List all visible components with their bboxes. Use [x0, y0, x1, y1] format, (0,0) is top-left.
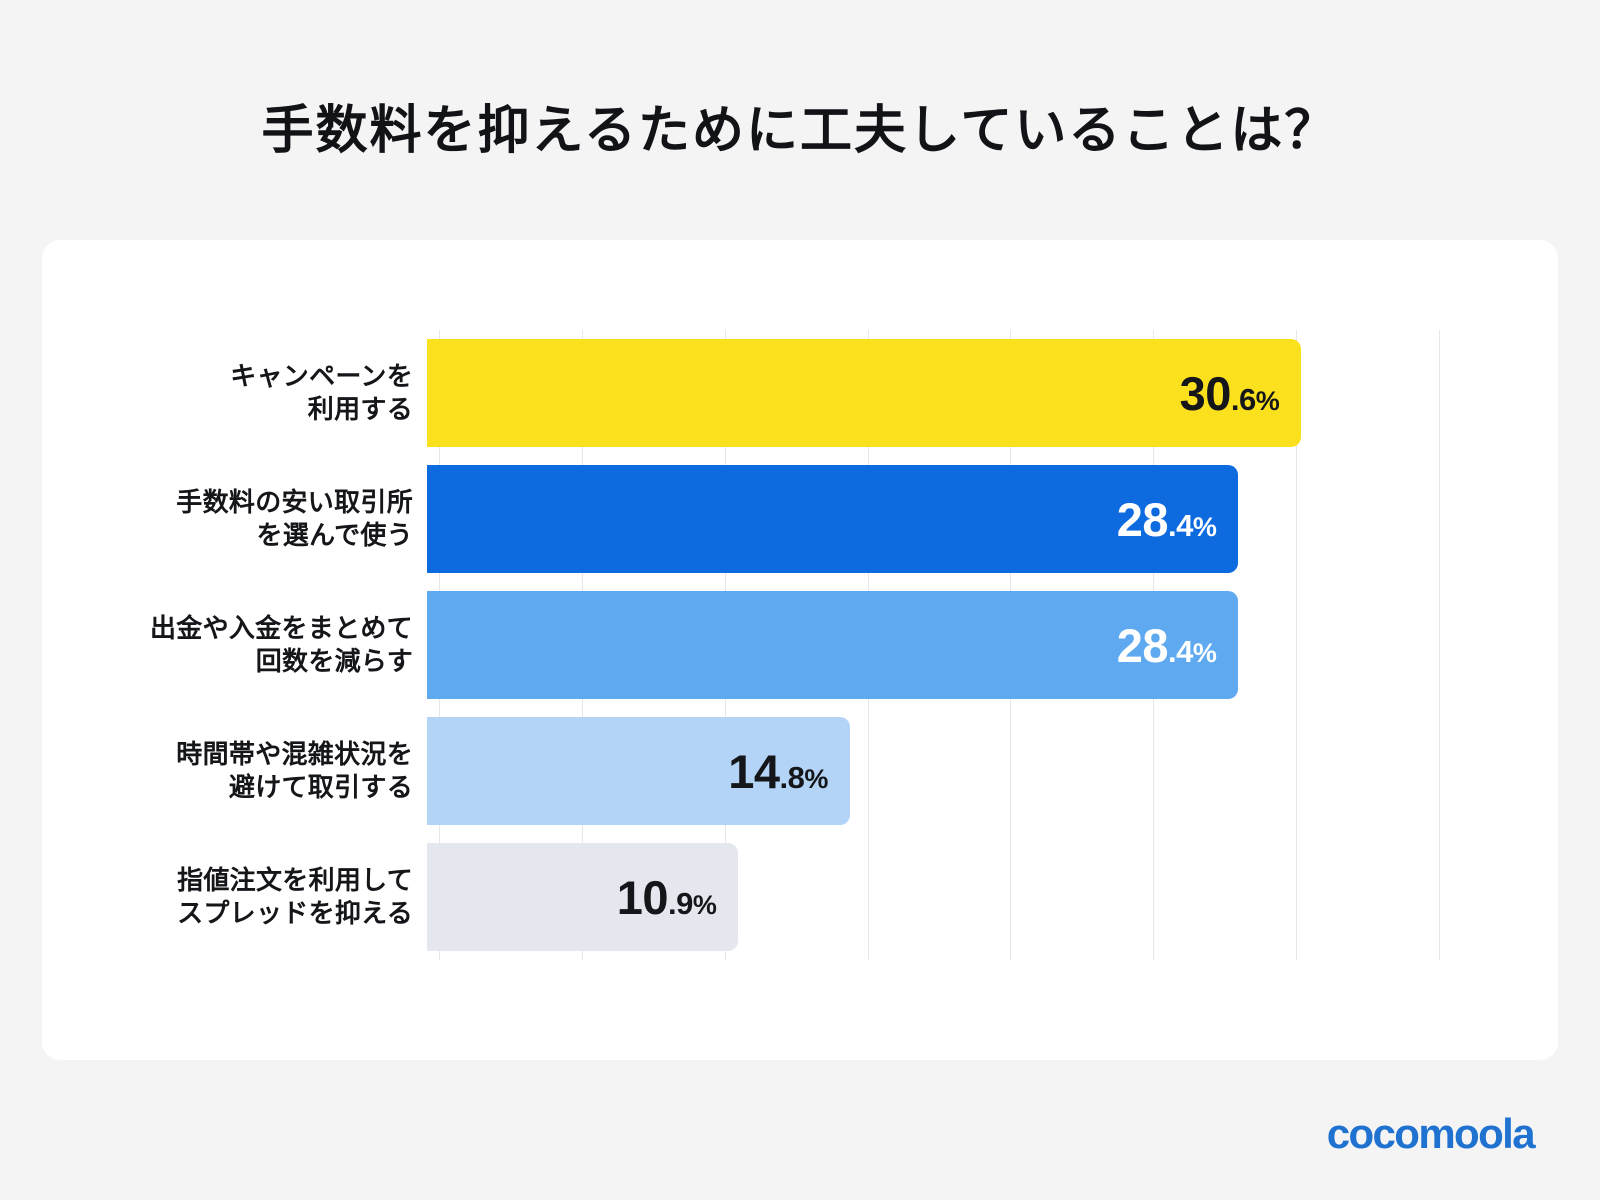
bar-row: 出金や入金をまとめて 回数を減らす28.4%: [42, 582, 1558, 708]
category-label: 出金や入金をまとめて 回数を減らす: [42, 612, 427, 678]
bar-value-label: 14.8%: [728, 744, 828, 799]
chart-page: 手数料を抑えるために工夫していることは？ キャンペーンを 利用する30.6%手数…: [0, 0, 1600, 1200]
value-dec: .4: [1168, 508, 1193, 544]
value-dec: .9: [668, 886, 693, 922]
bar-track: 28.4%: [427, 582, 1558, 708]
bar[interactable]: 28.4%: [427, 591, 1238, 699]
chart-card: キャンペーンを 利用する30.6%手数料の安い取引所 を選んで使う28.4%出金…: [42, 240, 1558, 1060]
bar-track: 28.4%: [427, 456, 1558, 582]
value-pct: %: [1193, 638, 1217, 669]
value-dec: .8: [779, 760, 804, 796]
page-title: 手数料を抑えるために工夫していることは？: [0, 88, 1600, 163]
bar-track: 14.8%: [427, 708, 1558, 834]
bar[interactable]: 28.4%: [427, 465, 1238, 573]
value-pct: %: [1256, 386, 1280, 417]
value-pct: %: [804, 764, 828, 795]
cocomoola-logo: cocomoola: [1327, 1110, 1534, 1158]
bar[interactable]: 10.9%: [427, 843, 738, 951]
bar-chart: キャンペーンを 利用する30.6%手数料の安い取引所 を選んで使う28.4%出金…: [42, 240, 1558, 1060]
bar-row: 時間帯や混雑状況を 避けて取引する14.8%: [42, 708, 1558, 834]
value-dec: .4: [1168, 634, 1193, 670]
category-label: 手数料の安い取引所 を選んで使う: [42, 486, 427, 552]
bar-value-label: 10.9%: [617, 870, 717, 925]
value-dec: .6: [1231, 382, 1256, 418]
value-int: 28: [1117, 618, 1168, 673]
bar-row: キャンペーンを 利用する30.6%: [42, 330, 1558, 456]
value-int: 30: [1180, 366, 1231, 421]
category-label: 指値注文を利用して スプレッドを抑える: [42, 864, 427, 930]
value-int: 14: [728, 744, 779, 799]
value-pct: %: [693, 890, 717, 921]
bar-value-label: 30.6%: [1180, 366, 1280, 421]
category-label: 時間帯や混雑状況を 避けて取引する: [42, 738, 427, 804]
bar[interactable]: 30.6%: [427, 339, 1301, 447]
bar-track: 30.6%: [427, 330, 1558, 456]
bar-value-label: 28.4%: [1117, 618, 1217, 673]
bar-row: 手数料の安い取引所 を選んで使う28.4%: [42, 456, 1558, 582]
bar-track: 10.9%: [427, 834, 1558, 960]
bar[interactable]: 14.8%: [427, 717, 850, 825]
value-pct: %: [1193, 512, 1217, 543]
bar-value-label: 28.4%: [1117, 492, 1217, 547]
value-int: 28: [1117, 492, 1168, 547]
bar-rows: キャンペーンを 利用する30.6%手数料の安い取引所 を選んで使う28.4%出金…: [42, 330, 1558, 960]
category-label: キャンペーンを 利用する: [42, 360, 427, 426]
bar-row: 指値注文を利用して スプレッドを抑える10.9%: [42, 834, 1558, 960]
value-int: 10: [617, 870, 668, 925]
